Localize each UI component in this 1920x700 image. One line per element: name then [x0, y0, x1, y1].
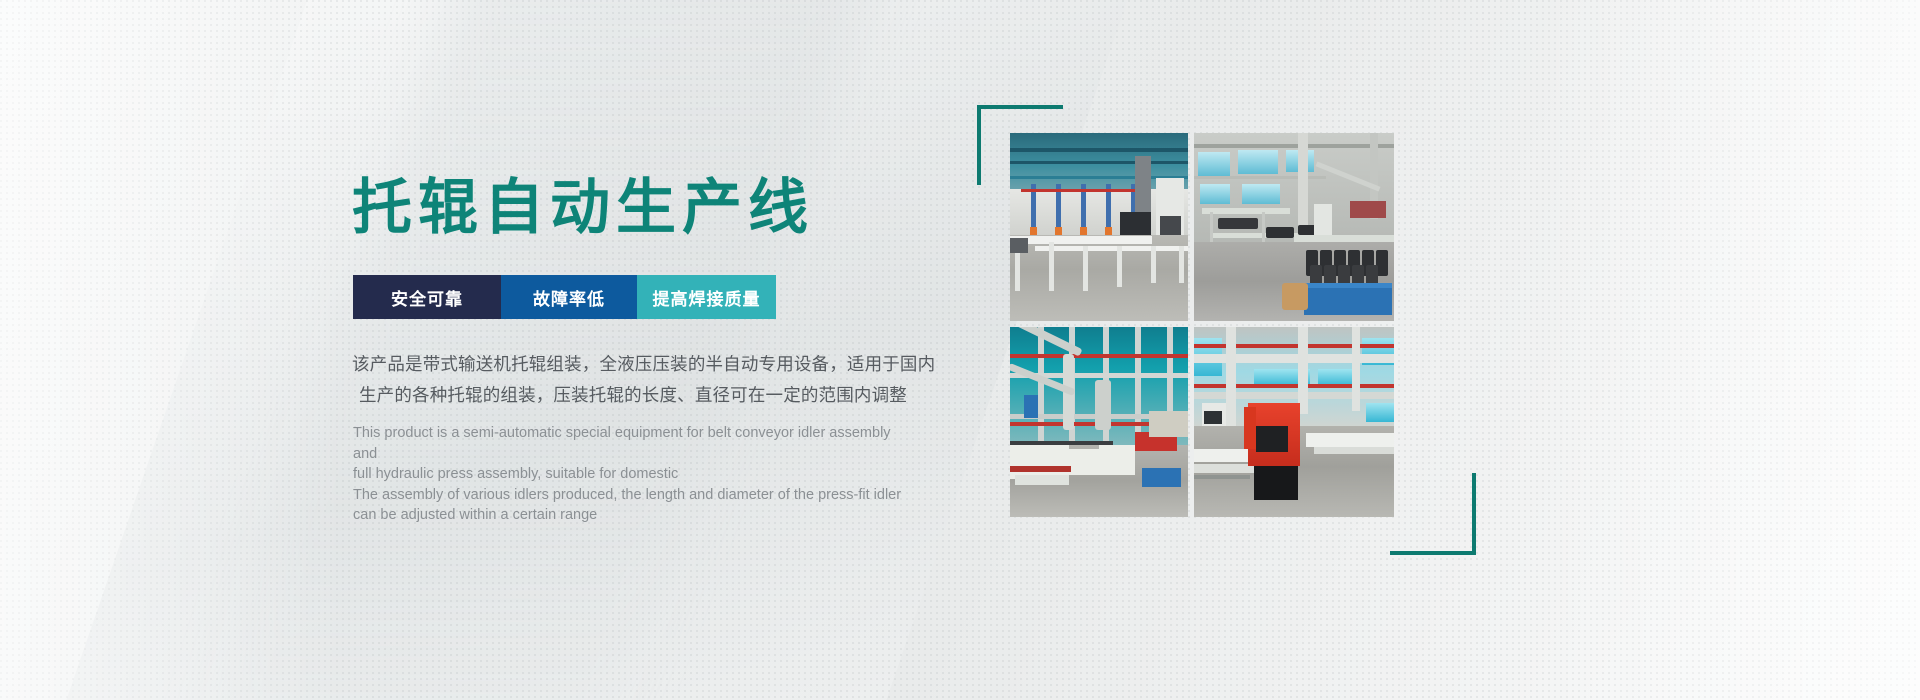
description-en-line-1: This product is a semi-automatic special… — [353, 423, 913, 464]
description-cn-line-1: 该产品是带式输送机托辊组装，全液压压装的半自动专用设备，适用于国内 — [352, 350, 952, 381]
gallery-photo-1[interactable] — [1010, 133, 1188, 321]
description-en-line-2: full hydraulic press assembly, suitable … — [353, 464, 913, 485]
photo-gallery — [1010, 133, 1410, 533]
gallery-photo-4[interactable] — [1194, 327, 1394, 517]
description-en-line-4: can be adjusted within a certain range — [353, 505, 913, 526]
description-en-line-3: The assembly of various idlers produced,… — [353, 485, 913, 506]
feature-tag-weld-quality[interactable]: 提高焊接质量 — [637, 275, 776, 319]
photo-grid — [1010, 133, 1410, 533]
description-chinese: 该产品是带式输送机托辊组装，全液压压装的半自动专用设备，适用于国内 生产的各种托… — [352, 350, 952, 412]
banner-stage: 托辊自动生产线 安全可靠 故障率低 提高焊接质量 该产品是带式输送机托辊组装，全… — [0, 0, 1920, 700]
feature-tag-list: 安全可靠 故障率低 提高焊接质量 — [353, 275, 776, 319]
description-cn-line-2: 生产的各种托辊的组装，压装托辊的长度、直径可在一定的范围内调整 — [352, 381, 952, 412]
feature-tag-failure-rate[interactable]: 故障率低 — [501, 275, 637, 319]
description-english: This product is a semi-automatic special… — [353, 423, 913, 526]
gallery-photo-3[interactable] — [1010, 327, 1188, 517]
banner-text-block: 托辊自动生产线 安全可靠 故障率低 提高焊接质量 该产品是带式输送机托辊组装，全… — [352, 0, 972, 700]
feature-tag-safety[interactable]: 安全可靠 — [353, 275, 501, 319]
page-title: 托辊自动生产线 — [352, 178, 814, 238]
gallery-photo-2[interactable] — [1194, 133, 1394, 321]
